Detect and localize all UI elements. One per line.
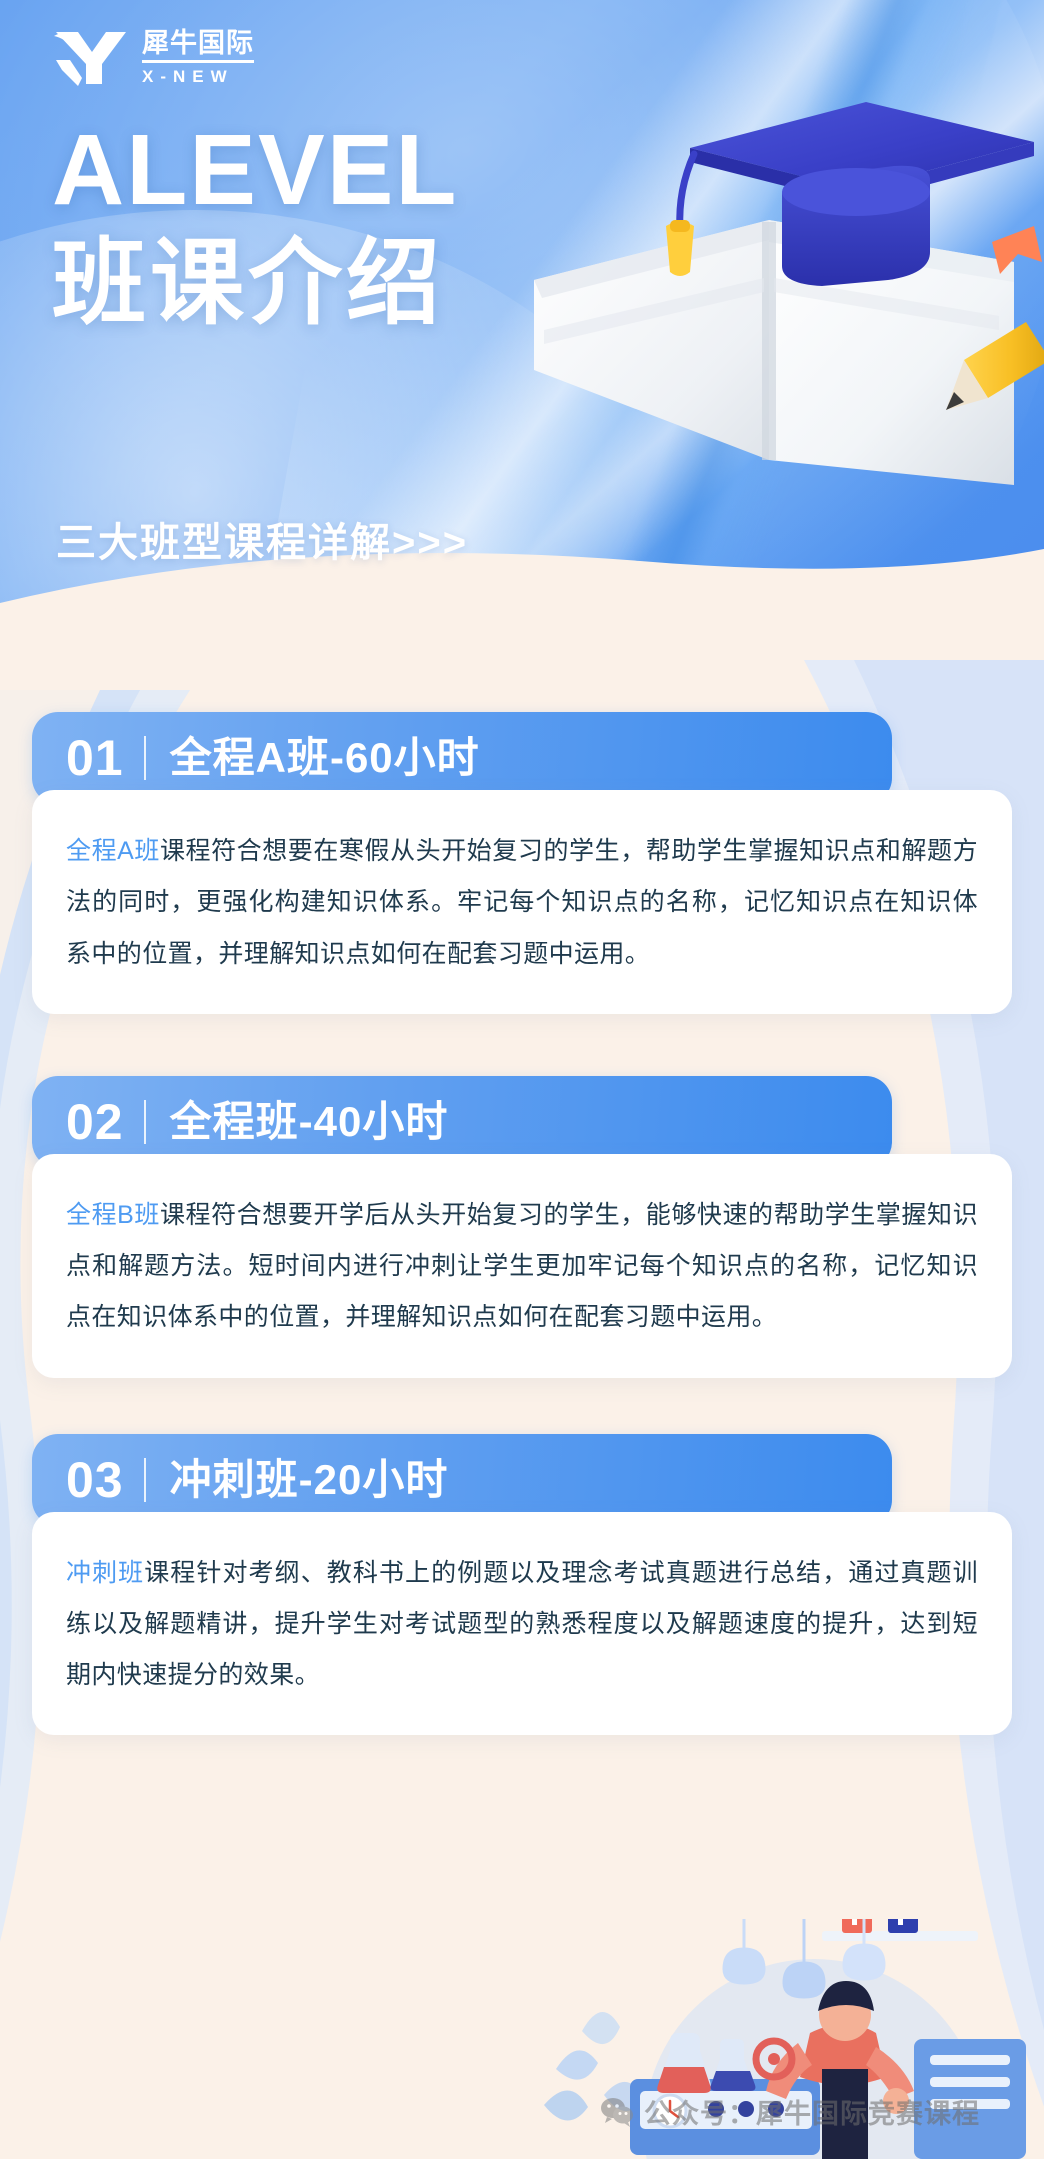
section-divider-03 bbox=[144, 1458, 146, 1502]
section-paragraph-02: 全程B班课程符合想要开学后从头开始复习的学生，能够快速的帮助学生掌握知识点和解题… bbox=[66, 1190, 978, 1344]
x-new-logo-icon bbox=[52, 26, 128, 90]
hero-subtitle: 三大班型课程详解>>> bbox=[56, 510, 468, 568]
footer-area: 公众号：犀牛国际竞赛课程 bbox=[0, 1919, 1044, 2159]
section-number-01: 01 bbox=[66, 733, 124, 783]
hero-title-en: ALEVEL bbox=[52, 120, 458, 220]
brand-logo[interactable]: 犀牛国际 X-NEW bbox=[52, 26, 254, 90]
section-text-03: 课程针对考纲、教科书上的例题以及理念考试真题进行总结，通过真题训练以及解题精讲，… bbox=[66, 1559, 978, 1690]
hero-title-cn: 班课介绍 bbox=[52, 228, 458, 339]
section-body-03: 冲刺班课程针对考纲、教科书上的例题以及理念考试真题进行总结，通过真题训练以及解题… bbox=[32, 1512, 1012, 1736]
brand-name-en: X-NEW bbox=[142, 67, 234, 87]
hero-banner: 犀牛国际 X-NEW ALEVEL 班课介绍 三大班型课程详解>>> bbox=[0, 0, 1044, 650]
section-paragraph-01: 全程A班课程符合想要在寒假从头开始复习的学生，帮助学生掌握知识点和解题方法的同时… bbox=[66, 826, 978, 980]
course-section-02: 02 全程班-40小时 全程B班课程符合想要开学后从头开始复习的学生，能够快速的… bbox=[32, 1076, 1012, 1378]
section-keyword-02: 全程B班 bbox=[66, 1201, 160, 1229]
wechat-icon bbox=[600, 2097, 634, 2127]
watermark-text: 公众号：犀牛国际竞赛课程 bbox=[644, 2092, 980, 2131]
section-keyword-01: 全程A班 bbox=[66, 837, 160, 865]
brand-logo-text: 犀牛国际 X-NEW bbox=[142, 29, 254, 87]
student-desk-lab-3d-icon bbox=[444, 1919, 1044, 2159]
sections-container: 01 全程A班-60小时 全程A班课程符合想要在寒假从头开始复习的学生，帮助学生… bbox=[0, 650, 1044, 1735]
brand-name-cn: 犀牛国际 bbox=[142, 29, 254, 63]
section-text-01: 课程符合想要在寒假从头开始复习的学生，帮助学生掌握知识点和解题方法的同时，更强化… bbox=[66, 837, 978, 968]
course-section-01: 01 全程A班-60小时 全程A班课程符合想要在寒假从头开始复习的学生，帮助学生… bbox=[32, 712, 1012, 1014]
hero-title-group: ALEVEL 班课介绍 bbox=[52, 120, 458, 339]
section-title-01: 全程A班-60小时 bbox=[170, 737, 480, 779]
section-text-02: 课程符合想要开学后从头开始复习的学生，能够快速的帮助学生掌握知识点和解题方法。短… bbox=[66, 1201, 978, 1332]
graduation-cap-open-book-pencil-3d-icon bbox=[494, 30, 1044, 500]
section-divider-01 bbox=[144, 736, 146, 780]
section-body-01: 全程A班课程符合想要在寒假从头开始复习的学生，帮助学生掌握知识点和解题方法的同时… bbox=[32, 790, 1012, 1014]
section-body-02: 全程B班课程符合想要开学后从头开始复习的学生，能够快速的帮助学生掌握知识点和解题… bbox=[32, 1154, 1012, 1378]
wechat-watermark: 公众号：犀牛国际竞赛课程 bbox=[600, 2092, 980, 2131]
section-paragraph-03: 冲刺班课程针对考纲、教科书上的例题以及理念考试真题进行总结，通过真题训练以及解题… bbox=[66, 1548, 978, 1702]
section-keyword-03: 冲刺班 bbox=[66, 1559, 144, 1587]
section-number-02: 02 bbox=[66, 1097, 124, 1147]
course-section-03: 03 冲刺班-20小时 冲刺班课程针对考纲、教科书上的例题以及理念考试真题进行总… bbox=[32, 1434, 1012, 1736]
section-title-02: 全程班-40小时 bbox=[170, 1101, 449, 1143]
section-divider-02 bbox=[144, 1100, 146, 1144]
section-title-03: 冲刺班-20小时 bbox=[170, 1459, 449, 1501]
section-number-03: 03 bbox=[66, 1455, 124, 1505]
hero-streak bbox=[568, 0, 971, 650]
poster-root: 犀牛国际 X-NEW ALEVEL 班课介绍 三大班型课程详解>>> bbox=[0, 0, 1044, 2159]
